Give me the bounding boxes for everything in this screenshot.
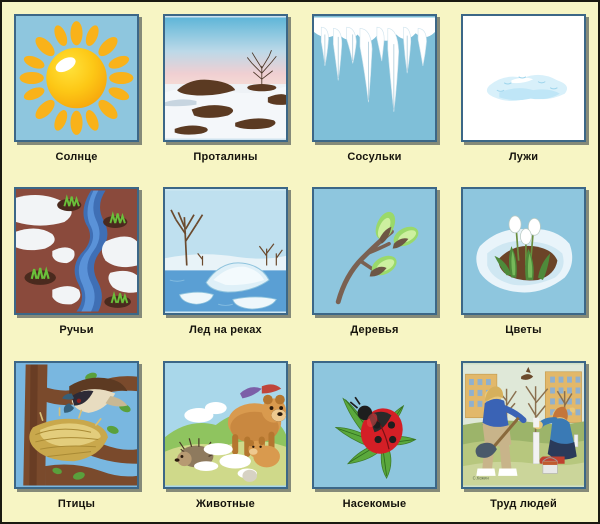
tile-image-people-working[interactable]: С.Кожин (461, 361, 586, 489)
tile-image-puddles[interactable] (461, 14, 586, 142)
tile-image-sun[interactable] (14, 14, 139, 142)
poster-board: Солнце (2, 2, 598, 522)
river-ice-icon (165, 189, 286, 313)
tile-label: Лед на реках (189, 324, 262, 336)
tile-cell-thawed-patches[interactable]: Проталины (151, 2, 300, 175)
tile-image-insects[interactable] (312, 361, 437, 489)
tile-image-thawed-patches[interactable] (163, 14, 288, 142)
snowdrops-icon (463, 189, 584, 313)
people-working-icon: С.Кожин (463, 363, 584, 487)
tile-label: Солнце (55, 151, 97, 163)
puddles-icon (463, 16, 584, 140)
tile-cell-birds-nest[interactable]: Птицы (2, 349, 151, 522)
icicles-icon (314, 16, 435, 140)
tile-image-icicles[interactable] (312, 14, 437, 142)
tile-label: Цветы (505, 324, 541, 336)
tiles-grid: Солнце (2, 2, 598, 522)
tile-label: Деревья (350, 324, 398, 336)
tile-cell-people-working[interactable]: С.Кожин Труд людей (449, 349, 598, 522)
tile-cell-sun[interactable]: Солнце (2, 2, 151, 175)
tile-cell-river-ice[interactable]: Лед на реках (151, 175, 300, 348)
tile-image-animals[interactable] (163, 361, 288, 489)
birds-nest-icon (16, 363, 137, 487)
tile-cell-snowdrops[interactable]: Цветы (449, 175, 598, 348)
tile-label: Проталины (193, 151, 257, 163)
tile-label: Насекомые (343, 498, 407, 510)
tile-label: Лужи (509, 151, 538, 163)
tile-cell-animals[interactable]: Животные (151, 349, 300, 522)
tile-label: Птицы (58, 498, 95, 510)
tile-image-birds-nest[interactable] (14, 361, 139, 489)
tile-image-tree-buds[interactable] (312, 187, 437, 315)
ladybug-icon (314, 363, 435, 487)
tile-cell-icicles[interactable]: Сосульки (300, 2, 449, 175)
tile-cell-tree-buds[interactable]: Деревья (300, 175, 449, 348)
streams-icon (16, 189, 137, 313)
sun-icon (16, 16, 137, 140)
tile-label: Труд людей (490, 498, 557, 510)
svg-text:С.Кожин: С.Кожин (473, 475, 489, 480)
tile-label: Ручьи (59, 324, 93, 336)
animals-bear-icon (165, 363, 286, 487)
tile-cell-puddles[interactable]: Лужи (449, 2, 598, 175)
tile-label: Животные (196, 498, 255, 510)
tile-image-snowdrops[interactable] (461, 187, 586, 315)
tile-label: Сосульки (347, 151, 401, 163)
tile-image-streams[interactable] (14, 187, 139, 315)
tile-image-river-ice[interactable] (163, 187, 288, 315)
thawed-patches-icon (165, 16, 286, 140)
tile-cell-streams[interactable]: Ручьи (2, 175, 151, 348)
tree-buds-icon (314, 189, 435, 313)
tile-cell-insects[interactable]: Насекомые (300, 349, 449, 522)
